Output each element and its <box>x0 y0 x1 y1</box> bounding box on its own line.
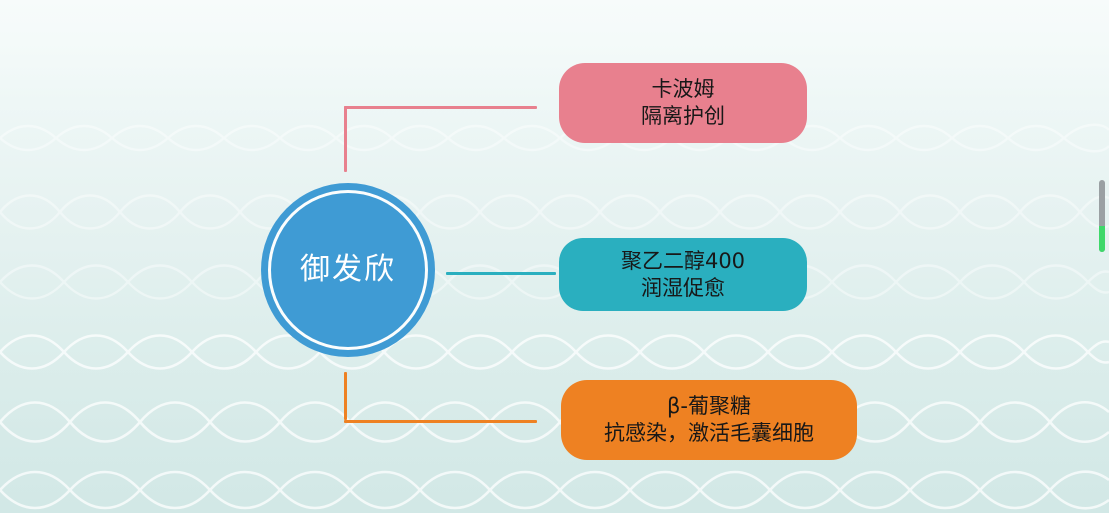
connector-carbomer-horizontal <box>344 106 537 109</box>
connector-peg400 <box>446 272 556 275</box>
slide-canvas: 御发欣 卡波姆 隔离护创 聚乙二醇400 润湿促愈 β-葡聚糖 抗感染，激活毛囊… <box>0 0 1109 513</box>
dna-pattern-lower <box>0 330 1109 513</box>
connector-betaglucan <box>344 372 540 423</box>
branch-betaglucan-title: β-葡聚糖 <box>667 393 751 420</box>
branch-box-betaglucan[interactable]: β-葡聚糖 抗感染，激活毛囊细胞 <box>561 380 857 460</box>
branch-box-peg400[interactable]: 聚乙二醇400 润湿促愈 <box>559 238 807 311</box>
connector-carbomer-vertical <box>344 106 347 172</box>
dna-pattern-upper <box>0 120 1109 320</box>
branch-box-carbomer[interactable]: 卡波姆 隔离护创 <box>559 63 807 143</box>
branch-betaglucan-subtitle: 抗感染，激活毛囊细胞 <box>604 420 814 447</box>
branch-peg400-title: 聚乙二醇400 <box>621 248 745 275</box>
edge-progress-fill <box>1099 226 1105 252</box>
connector-carbomer <box>344 106 540 176</box>
connector-betaglucan-horizontal <box>344 420 537 423</box>
center-node-yufaxin[interactable]: 御发欣 <box>261 183 435 357</box>
branch-carbomer-subtitle: 隔离护创 <box>641 103 725 130</box>
center-node-label: 御发欣 <box>300 255 396 285</box>
branch-peg400-subtitle: 润湿促愈 <box>641 275 725 302</box>
edge-progress-indicator[interactable] <box>1099 180 1105 252</box>
connector-betaglucan-vertical <box>344 372 347 420</box>
branch-carbomer-title: 卡波姆 <box>652 76 715 103</box>
